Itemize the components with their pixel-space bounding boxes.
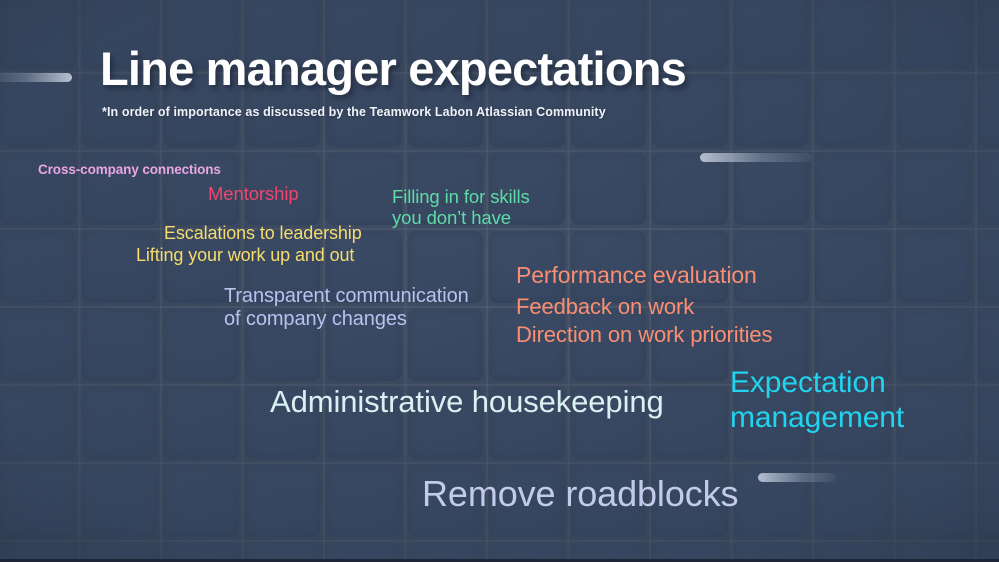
- slide-canvas: Line manager expectations *In order of i…: [0, 0, 999, 562]
- word-cloud-line: management: [730, 401, 904, 434]
- word-cloud-item-filling-in-for-skills: Filling in for skillsyou don’t have: [392, 186, 530, 229]
- word-cloud-line: Transparent communication: [224, 285, 469, 307]
- word-cloud-item-lifting-your-work-up-and-out: Lifting your work up and out: [136, 245, 354, 266]
- word-cloud-item-performance-evaluation: Performance evaluation: [516, 262, 757, 289]
- word-cloud-item-transparent-communication: Transparent communicationof company chan…: [224, 285, 469, 331]
- word-cloud-item-administrative-housekeeping: Administrative housekeeping: [270, 384, 664, 420]
- word-cloud-item-mentorship: Mentorship: [208, 183, 299, 204]
- word-cloud-line: you don’t have: [392, 207, 511, 228]
- word-cloud-line: Filling in for skills: [392, 186, 530, 207]
- word-cloud-line: Expectation: [730, 366, 886, 399]
- word-cloud-item-feedback-on-work: Feedback on work: [516, 294, 694, 320]
- word-cloud-item-escalations-to-leadership: Escalations to leadership: [164, 223, 362, 244]
- word-cloud-item-expectation-management: Expectationmanagement: [730, 366, 904, 436]
- word-cloud-item-cross-company-connections: Cross-company connections: [38, 162, 221, 178]
- word-cloud-item-direction-on-work-priorities: Direction on work priorities: [516, 322, 772, 348]
- word-cloud-line: of company changes: [224, 308, 407, 330]
- word-cloud: Cross-company connections Mentorship Fil…: [0, 0, 999, 559]
- word-cloud-item-remove-roadblocks: Remove roadblocks: [422, 473, 738, 515]
